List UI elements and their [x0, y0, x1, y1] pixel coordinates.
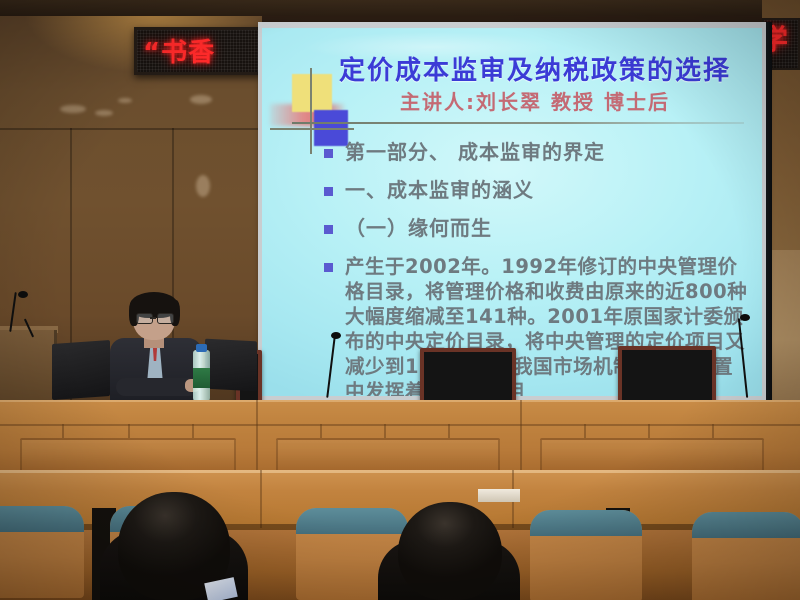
ceiling-strip	[0, 0, 800, 16]
desk-seam	[260, 470, 262, 528]
stage-chair-back	[420, 348, 516, 404]
desk-seam	[448, 424, 450, 438]
desk-edge	[0, 400, 800, 402]
stage-chair-back	[618, 346, 716, 404]
deco-vertical-line	[310, 68, 312, 154]
bullet-square-icon	[324, 149, 333, 158]
led-banner-left-text: “书香	[143, 34, 215, 72]
water-bottle-cap	[196, 344, 207, 352]
desk-seam	[192, 424, 194, 438]
eyeglasses-bridge	[150, 317, 156, 319]
audience-person-head	[398, 502, 502, 600]
desk-seam	[584, 424, 586, 438]
microphone-head	[18, 291, 28, 298]
water-bottle-label	[193, 368, 210, 388]
audience-seat	[0, 506, 84, 598]
led-banner-left: “书香	[134, 27, 262, 75]
bullet-square-icon	[324, 263, 333, 272]
bullet-text: （一）缘何而生	[345, 216, 492, 241]
lecture-hall-photo: “书香 学 定价成本监审及纳税政策的选择 主讲人:刘长翠 教授 博士后 第一部分…	[0, 0, 800, 600]
deco-horizontal-line	[270, 128, 354, 130]
list-item: 一、成本监审的涵义	[324, 178, 754, 203]
desk-seam	[712, 424, 714, 438]
desk-seam	[320, 424, 322, 438]
slide-divider	[292, 122, 744, 124]
podium	[0, 330, 57, 408]
seat-cushion-top	[0, 506, 84, 532]
wall-scuff	[118, 98, 132, 103]
desk-seam	[520, 400, 522, 472]
slide-subtitle: 主讲人:刘长翠 教授 博士后	[320, 86, 750, 115]
desk-seam	[648, 424, 650, 438]
bullet-text: 一、成本监审的涵义	[345, 178, 534, 203]
list-item: 第一部分、 成本监审的界定	[324, 140, 754, 165]
seat-cushion-top	[692, 512, 800, 538]
slide-title: 定价成本监审及纳税政策的选择	[320, 50, 750, 87]
bullet-square-icon	[324, 225, 333, 234]
seat-cushion-top	[530, 510, 642, 536]
microphone-head	[740, 314, 750, 321]
bullet-text: 第一部分、 成本监审的界定	[345, 140, 605, 165]
list-item: （一）缘何而生	[324, 216, 754, 241]
audience-seat	[692, 512, 800, 600]
laptop-left	[52, 340, 110, 400]
desk-edge	[0, 470, 800, 473]
desk-front-panel	[20, 438, 236, 472]
eyeglasses-right-lens-icon	[157, 313, 174, 324]
desk-seam	[384, 424, 386, 438]
wall-scuff	[196, 175, 210, 197]
projected-slide: 定价成本监审及纳税政策的选择 主讲人:刘长翠 教授 博士后 第一部分、 成本监审…	[262, 28, 762, 396]
bullet-square-icon	[324, 187, 333, 196]
audience-seat	[530, 510, 642, 600]
desk-groove	[0, 424, 800, 426]
seat-cushion-top	[296, 508, 408, 534]
desk-front-panel	[540, 438, 764, 472]
microphone-head	[331, 332, 341, 339]
booklet-on-desk	[478, 489, 520, 502]
laptop-right	[205, 339, 257, 392]
desk-seam	[128, 424, 130, 438]
wall-scuff	[190, 95, 212, 104]
desk-seam	[256, 400, 258, 472]
desk-front-panel	[276, 438, 500, 472]
wall-scuff	[60, 105, 86, 113]
wall-scuff	[95, 110, 113, 116]
desk-seam	[62, 424, 64, 438]
